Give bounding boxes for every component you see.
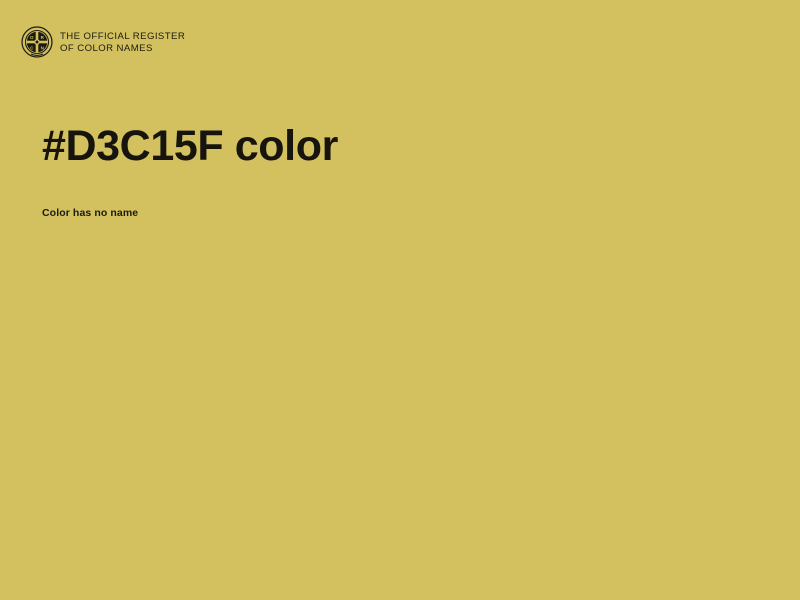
svg-text:O: O xyxy=(30,35,34,40)
color-info-block: #D3C15F color Color has no name xyxy=(42,121,762,220)
color-page: O R C N THE OFFICIAL REGISTER OF COLOR N… xyxy=(0,0,800,600)
svg-text:N: N xyxy=(41,45,44,50)
color-name-status: Color has no name xyxy=(42,171,762,220)
official-register-seal-icon: O R C N xyxy=(21,26,53,58)
brand-line-2: OF COLOR NAMES xyxy=(60,43,185,55)
page-title: #D3C15F color xyxy=(42,121,762,171)
brand-text: THE OFFICIAL REGISTER OF COLOR NAMES xyxy=(60,30,185,54)
brand-line-1: THE OFFICIAL REGISTER xyxy=(60,31,185,43)
brand-lockup[interactable]: O R C N THE OFFICIAL REGISTER OF COLOR N… xyxy=(21,26,185,58)
